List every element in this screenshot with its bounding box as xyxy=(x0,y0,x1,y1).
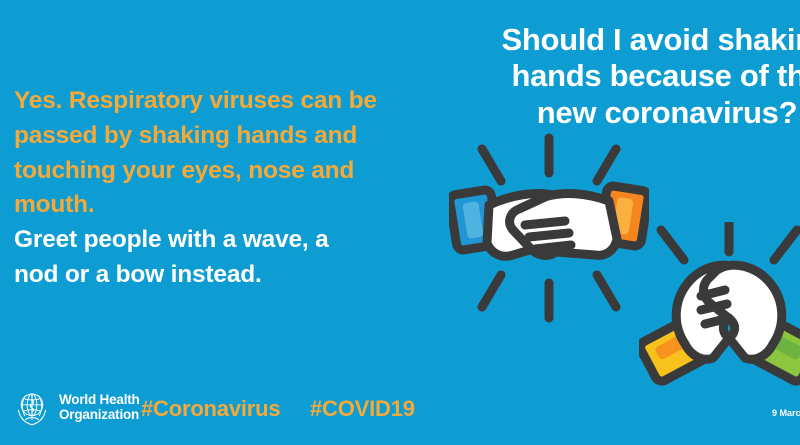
spark-marks-bottom xyxy=(482,275,616,318)
spark-icon xyxy=(482,275,501,307)
answer-text: Yes. Respiratory viruses can be passed b… xyxy=(14,84,414,223)
spark-icon xyxy=(774,230,797,260)
who-logo: World Health Organization xyxy=(12,388,140,428)
spark-icon xyxy=(597,149,616,181)
spark-marks xyxy=(661,222,797,260)
spark-icon xyxy=(597,275,616,307)
who-emblem-icon xyxy=(12,388,52,428)
handshake-illustration xyxy=(449,133,649,323)
date-stamp: 9 March 2020 xyxy=(772,408,800,418)
who-covid-advice-poster: Should I avoid shaking hands because of … xyxy=(0,0,800,445)
advice-text: Greet people with a wave, a nod or a bow… xyxy=(14,223,414,293)
hashtag-coronavirus[interactable]: #Coronavirus xyxy=(141,396,280,422)
spark-icon xyxy=(482,149,501,181)
spark-icon xyxy=(661,230,684,260)
hand-shapes xyxy=(487,193,617,256)
hand-shapes xyxy=(676,265,782,359)
page-title: Should I avoid shaking hands because of … xyxy=(452,22,800,131)
who-wordmark: World Health Organization xyxy=(59,393,140,422)
spark-marks-top xyxy=(482,138,616,181)
body-copy: Yes. Respiratory viruses can be passed b… xyxy=(14,84,414,293)
clasped-hands-illustration xyxy=(639,222,800,397)
hashtag-covid19[interactable]: #COVID19 xyxy=(310,396,415,422)
